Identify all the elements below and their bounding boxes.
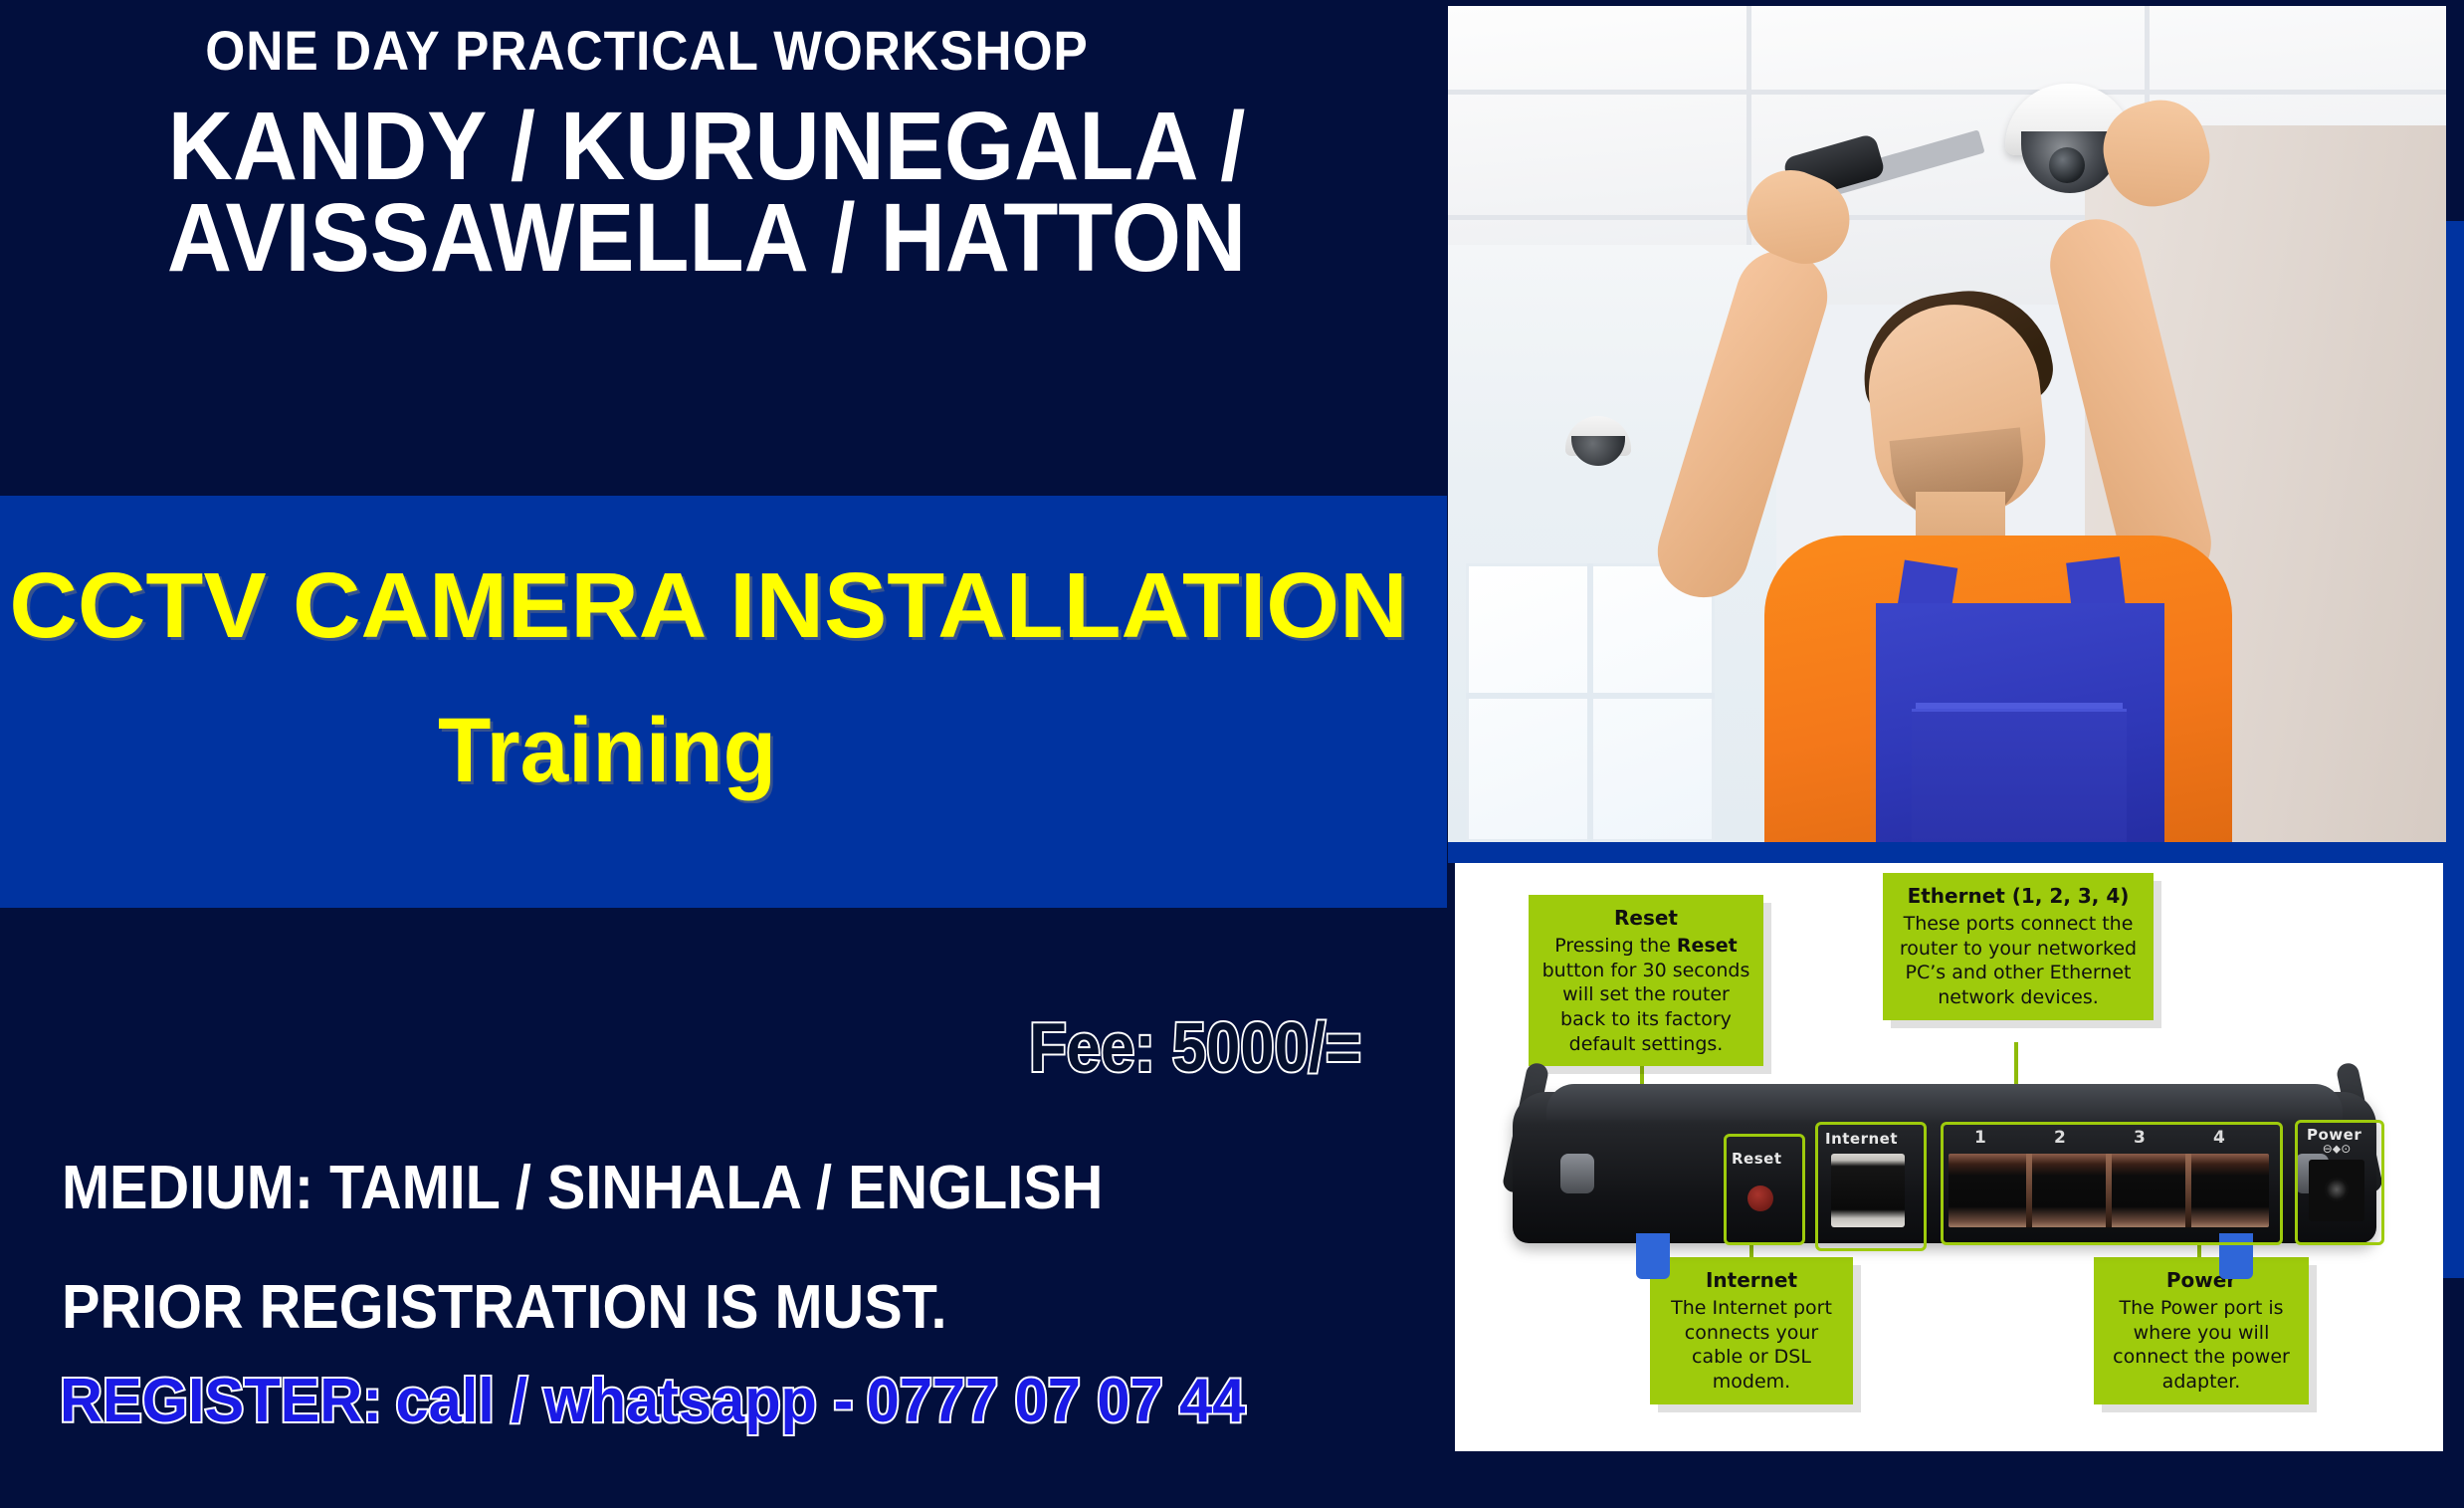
callout-reset-body-post: button for 30 seconds will set the route…: [1542, 960, 1750, 1055]
ethernet-port-2-label: 2: [2054, 1128, 2066, 1148]
callout-ethernet: Ethernet (1, 2, 3, 4) These ports connec…: [1883, 873, 2154, 1020]
antenna-base-left: [1560, 1154, 1594, 1193]
callout-power: Power The Power port is where you will c…: [2094, 1257, 2309, 1404]
callout-power-body: The Power port is where you will connect…: [2113, 1297, 2290, 1393]
ceiling-seam: [1448, 90, 2446, 95]
ethernet-port-divider: [2106, 1154, 2112, 1227]
city-line-2: AVISSAWELLA / HATTON: [50, 189, 1364, 288]
callout-internet: Internet The Internet port connects your…: [1650, 1257, 1853, 1404]
router-port-diagram: Reset Pressing the Reset button for 30 s…: [1455, 863, 2443, 1451]
fee-text: Fee: 5000/=: [163, 1007, 1361, 1087]
register-label: REGISTER:: [60, 1367, 382, 1435]
router-top-edge: [1546, 1084, 2343, 1120]
callout-reset-body-bold: Reset: [1677, 935, 1738, 957]
power-symbol-icon: ⊖⬥⊙: [2307, 1142, 2366, 1156]
panel-divider-blue-strip: [1448, 841, 2464, 863]
callout-ethernet-body: These ports connect the router to your n…: [1900, 913, 2137, 1008]
internet-rj45-port[interactable]: [1831, 1154, 1905, 1227]
overall-pocket: [1912, 709, 2127, 842]
callout-reset-body-pre: Pressing the: [1554, 935, 1677, 957]
course-title: CCTV CAMERA INSTALLATION: [0, 559, 1431, 652]
callout-reset: Reset Pressing the Reset button for 30 s…: [1529, 895, 1763, 1066]
poster-canvas: ONE DAY PRACTICAL WORKSHOP KANDY / KURUN…: [0, 0, 2464, 1508]
internet-port-label: Internet: [1825, 1130, 1898, 1148]
medium-languages: MEDIUM: TAMIL / SINHALA / ENGLISH: [62, 1153, 1103, 1223]
router-foot-left: [1636, 1233, 1670, 1279]
ethernet-port-divider: [2026, 1154, 2032, 1227]
callout-power-title: Power: [2106, 1267, 2297, 1293]
register-contact-line[interactable]: REGISTER:call / whatsapp -0777 07 07 44: [60, 1366, 1259, 1436]
callout-internet-title: Internet: [1662, 1267, 1841, 1293]
prior-registration-note: PRIOR REGISTRATION IS MUST.: [62, 1272, 947, 1343]
left-content-column: ONE DAY PRACTICAL WORKSHOP KANDY / KURUN…: [0, 0, 1447, 1508]
ethernet-port-3-label: 3: [2134, 1128, 2146, 1148]
ethernet-port-1-label: 1: [1974, 1128, 1986, 1148]
callout-internet-body: The Internet port connects your cable or…: [1671, 1297, 1832, 1393]
callout-ethernet-title: Ethernet (1, 2, 3, 4): [1895, 883, 2142, 909]
window-mullion: [1466, 693, 1715, 699]
register-channels: call / whatsapp -: [396, 1367, 854, 1435]
reset-button[interactable]: [1747, 1185, 1773, 1211]
ethernet-port-4-label: 4: [2213, 1128, 2225, 1148]
register-phone-number[interactable]: 0777 07 07 44: [867, 1367, 1246, 1435]
photo-scene: [1448, 6, 2446, 842]
city-line-1: KANDY / KURUNEGALA /: [50, 98, 1364, 196]
course-subtitle: Training: [31, 705, 1184, 796]
dome-camera-lens: [2049, 147, 2085, 183]
window-mullion: [1587, 563, 1593, 842]
reset-port-label: Reset: [1732, 1150, 1782, 1168]
ethernet-port-divider: [2185, 1154, 2191, 1227]
wireless-router: Reset Internet 1 2 3 4 Power ⊖⬥⊙: [1487, 1058, 2402, 1247]
workshop-kicker: ONE DAY PRACTICAL WORKSHOP: [52, 18, 1242, 83]
cctv-installer-photo: [1448, 6, 2446, 842]
title-blue-band: CCTV CAMERA INSTALLATION Training: [0, 496, 1447, 908]
power-jack-hole: [2325, 1178, 2349, 1201]
callout-reset-title: Reset: [1540, 905, 1751, 931]
